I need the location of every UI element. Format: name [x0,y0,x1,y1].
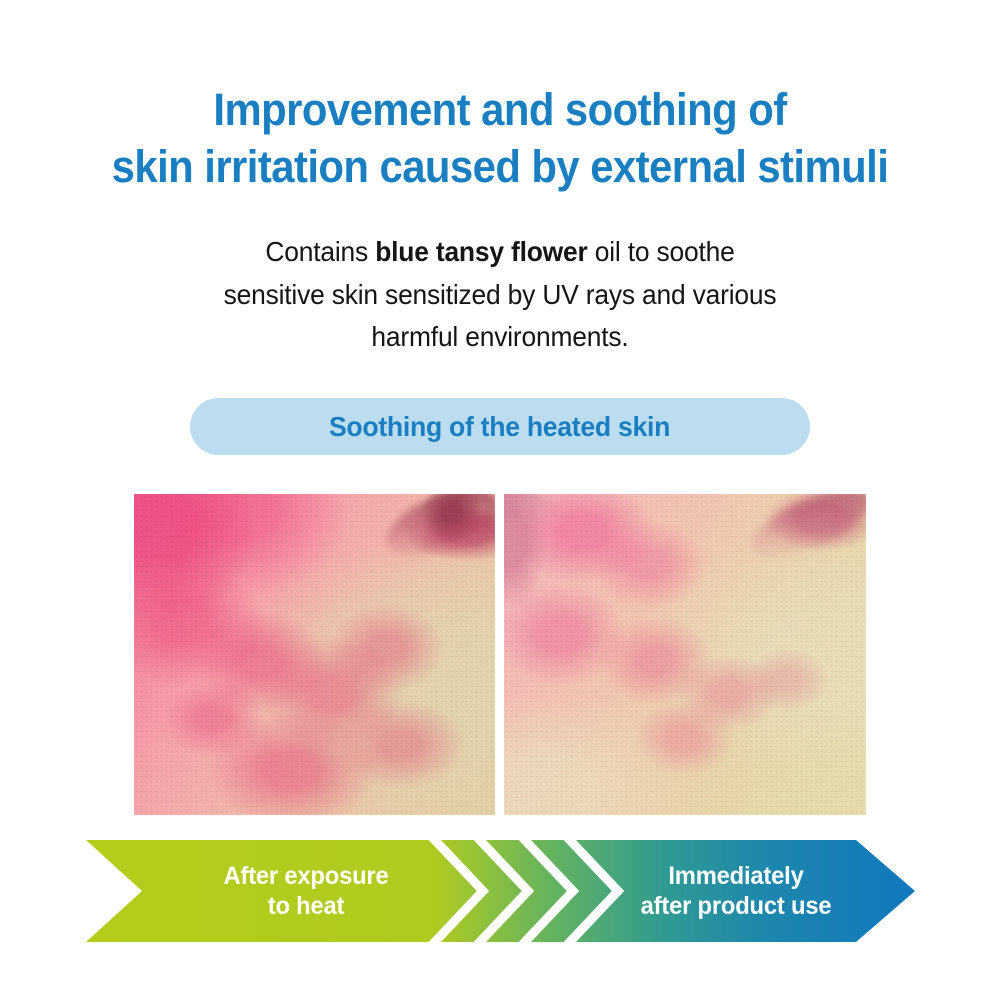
arrow-banner-shape [86,840,915,942]
arrow-banner-graphic [86,840,915,942]
description-line-3: harmful environments. [20,316,980,359]
description-line-2: sensitive skin sensitized by UV rays and… [20,274,980,317]
page-title: Improvement and soothing of skin irritat… [35,82,965,195]
description-line-1-prefix: Contains [265,236,375,267]
infographic-page: Improvement and soothing of skin irritat… [0,0,1000,1000]
page-title-line-2: skin irritation caused by external stimu… [35,139,965,196]
before-photo [134,494,495,815]
section-badge: Soothing of the heated skin [190,398,810,455]
description-text: Contains blue tansy flower oil to soothe… [20,231,980,359]
before-after-arrow-banner: After exposure to heat Immediately after… [86,840,915,942]
page-title-line-1: Improvement and soothing of [35,82,965,139]
description-line-1-suffix: oil to soothe [588,236,735,267]
ingredient-highlight: blue tansy flower [375,236,587,267]
after-photo [504,494,866,815]
after-photo-grain [504,494,866,815]
section-badge-label: Soothing of the heated skin [329,411,670,443]
before-photo-grain [134,494,495,815]
description-line-1: Contains blue tansy flower oil to soothe [20,231,980,274]
